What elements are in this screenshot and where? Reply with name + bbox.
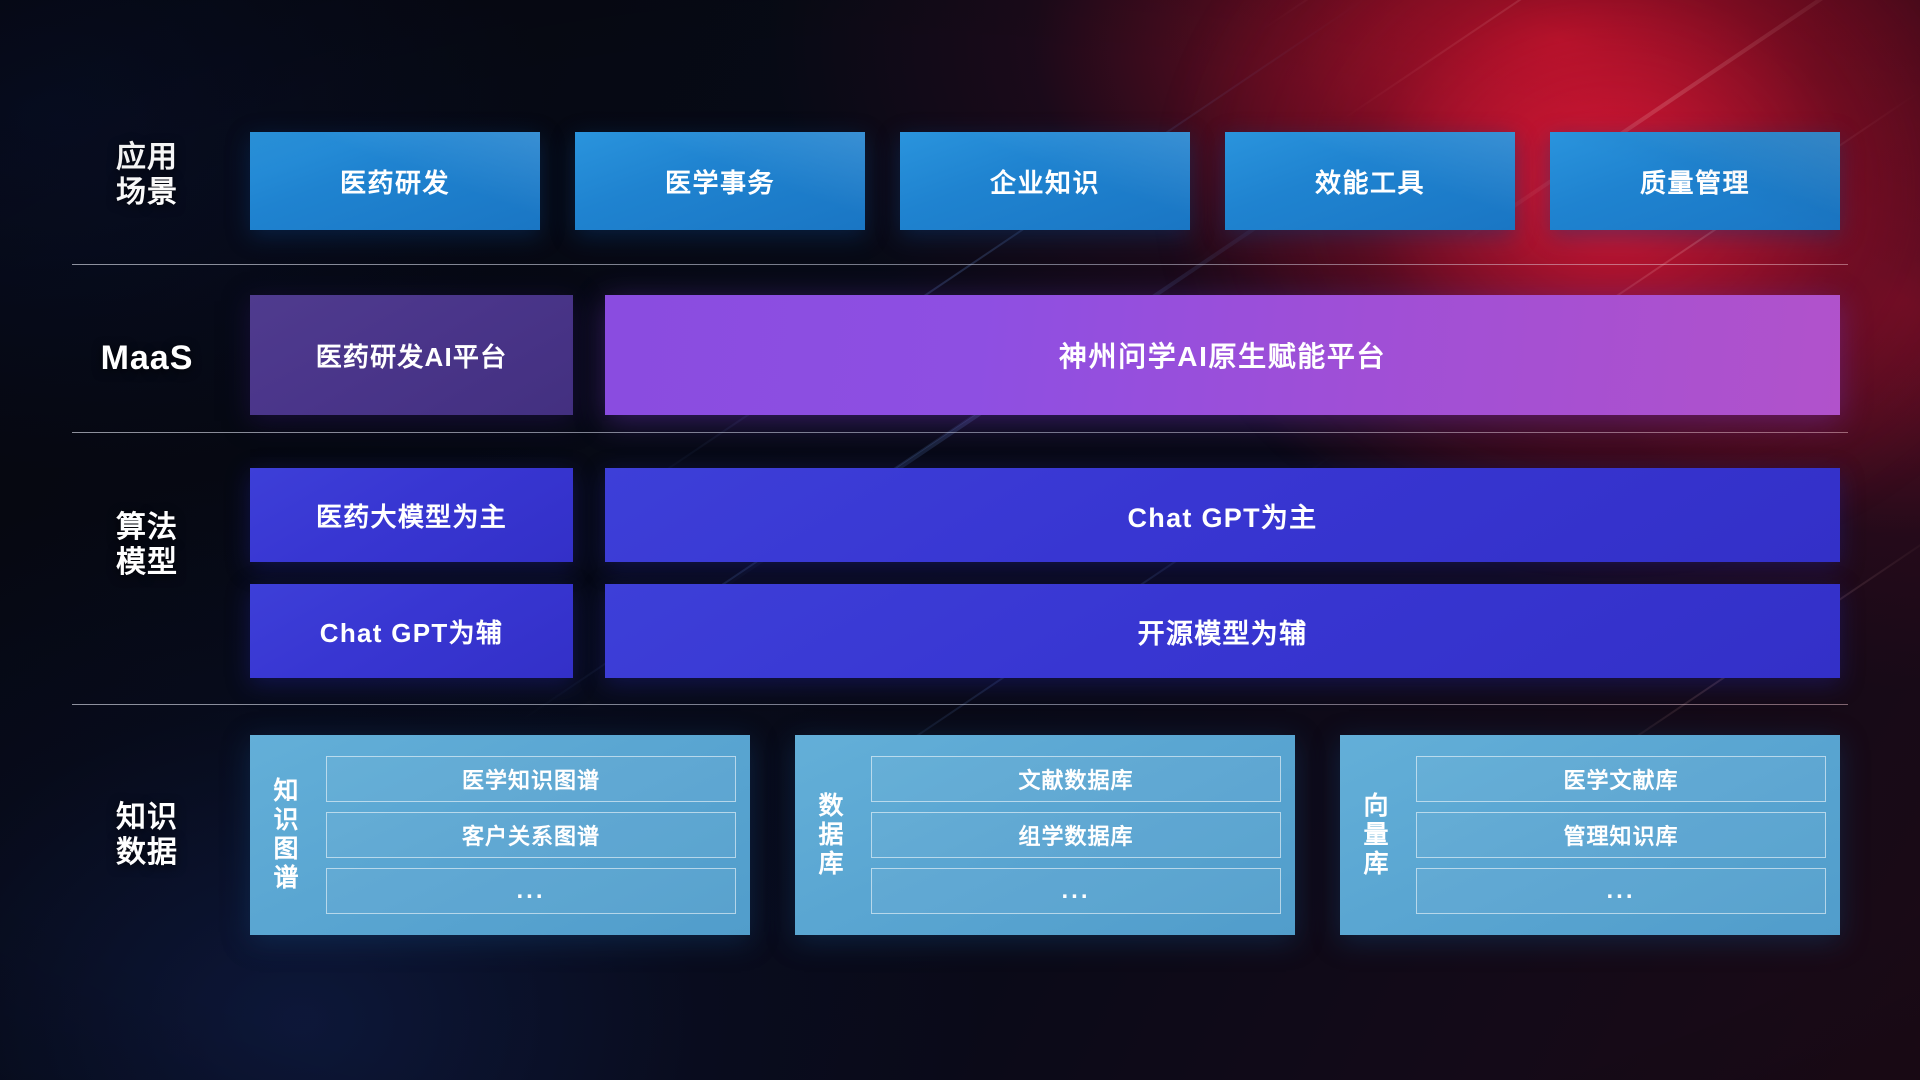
knowledge-item-label: ...: [1606, 877, 1635, 905]
tier-label-line: 数据: [72, 835, 222, 870]
knowledge-item-label: ...: [1061, 877, 1090, 905]
algorithm-box-row1-right[interactable]: Chat GPT为主: [605, 468, 1840, 562]
knowledge-item[interactable]: 管理知识库: [1416, 812, 1826, 858]
maas-platform-right[interactable]: 神州问学AI原生赋能平台: [605, 295, 1840, 415]
algorithm-box-row2-right[interactable]: 开源模型为辅: [605, 584, 1840, 678]
app-scenario-label: 企业知识: [990, 163, 1100, 200]
algorithm-label: Chat GPT为辅: [320, 613, 503, 650]
app-scenario-box-4[interactable]: 效能工具: [1225, 132, 1515, 230]
knowledge-item-label: 客户关系图谱: [462, 819, 600, 851]
knowledge-item-label: ...: [516, 877, 545, 905]
divider-1: [72, 264, 1848, 265]
knowledge-panel-graph-items: 医学知识图谱 客户关系图谱 ...: [322, 735, 750, 935]
knowledge-item[interactable]: 客户关系图谱: [326, 812, 736, 858]
vertical-label-char: 谱: [273, 864, 298, 893]
app-scenario-box-2[interactable]: 医学事务: [575, 132, 865, 230]
knowledge-item-label: 管理知识库: [1563, 819, 1678, 851]
knowledge-panel-database-items: 文献数据库 组学数据库 ...: [867, 735, 1295, 935]
app-scenario-label: 医药研发: [340, 163, 450, 200]
algorithm-box-row1-left[interactable]: 医药大模型为主: [250, 468, 573, 562]
knowledge-item[interactable]: 组学数据库: [871, 812, 1281, 858]
knowledge-item-label: 医学知识图谱: [462, 763, 600, 795]
vertical-label-char: 库: [818, 850, 843, 879]
knowledge-panel-vector[interactable]: 向 量 库 医学文献库 管理知识库 ...: [1340, 735, 1840, 935]
divider-3: [72, 704, 1848, 705]
knowledge-item[interactable]: 文献数据库: [871, 756, 1281, 802]
vertical-label-char: 向: [1363, 792, 1388, 821]
tier-label-line: 场景: [72, 175, 222, 210]
knowledge-panel-vector-vertical-label: 向 量 库: [1340, 735, 1412, 935]
knowledge-item-more[interactable]: ...: [1416, 868, 1826, 914]
divider-2: [72, 432, 1848, 433]
app-scenario-label: 效能工具: [1315, 163, 1425, 200]
maas-platform-left[interactable]: 医药研发AI平台: [250, 295, 573, 415]
algorithm-label: 医药大模型为主: [316, 497, 507, 534]
knowledge-item-more[interactable]: ...: [326, 868, 736, 914]
vertical-label-char: 识: [273, 806, 298, 835]
tier-label-line: 知识: [72, 800, 222, 835]
vertical-label-char: 知: [273, 777, 298, 806]
knowledge-item[interactable]: 医学知识图谱: [326, 756, 736, 802]
algorithm-label: Chat GPT为主: [1127, 496, 1317, 535]
tier-label-maas: MaaS: [72, 338, 222, 378]
app-scenario-box-5[interactable]: 质量管理: [1550, 132, 1840, 230]
algorithm-box-row2-left[interactable]: Chat GPT为辅: [250, 584, 573, 678]
app-scenario-box-3[interactable]: 企业知识: [900, 132, 1190, 230]
knowledge-panel-database[interactable]: 数 据 库 文献数据库 组学数据库 ...: [795, 735, 1295, 935]
app-scenario-label: 质量管理: [1640, 163, 1750, 200]
vertical-label-char: 量: [1363, 821, 1388, 850]
algorithm-label: 开源模型为辅: [1138, 612, 1308, 651]
app-scenario-box-1[interactable]: 医药研发: [250, 132, 540, 230]
knowledge-item-more[interactable]: ...: [871, 868, 1281, 914]
knowledge-item-label: 医学文献库: [1563, 763, 1678, 795]
architecture-rows: 应用 场景 医药研发 医学事务 企业知识 效能工具 质量管理 MaaS: [0, 0, 1920, 1080]
knowledge-panel-database-vertical-label: 数 据 库: [795, 735, 867, 935]
tier-label-line: 算法: [72, 510, 222, 545]
knowledge-panel-graph[interactable]: 知 识 图 谱 医学知识图谱 客户关系图谱 ...: [250, 735, 750, 935]
knowledge-panel-vector-items: 医学文献库 管理知识库 ...: [1412, 735, 1840, 935]
app-scenario-label: 医学事务: [665, 163, 775, 200]
vertical-label-char: 据: [818, 821, 843, 850]
knowledge-item-label: 组学数据库: [1018, 819, 1133, 851]
maas-platform-right-label: 神州问学AI原生赋能平台: [1059, 335, 1386, 375]
maas-platform-left-label: 医药研发AI平台: [316, 337, 508, 374]
tier-label-application-scenarios: 应用 场景: [72, 140, 222, 211]
tier-label-line: MaaS: [72, 338, 222, 378]
tier-label-line: 模型: [72, 545, 222, 580]
vertical-label-char: 数: [818, 792, 843, 821]
slide-canvas: 应用 场景 医药研发 医学事务 企业知识 效能工具 质量管理 MaaS: [0, 0, 1920, 1080]
vertical-label-char: 库: [1363, 850, 1388, 879]
knowledge-panel-graph-vertical-label: 知 识 图 谱: [250, 735, 322, 935]
vertical-label-char: 图: [273, 835, 298, 864]
knowledge-item[interactable]: 医学文献库: [1416, 756, 1826, 802]
knowledge-item-label: 文献数据库: [1018, 763, 1133, 795]
tier-label-algorithm-models: 算法 模型: [72, 510, 222, 581]
tier-label-line: 应用: [72, 140, 222, 175]
tier-label-knowledge-data: 知识 数据: [72, 800, 222, 871]
